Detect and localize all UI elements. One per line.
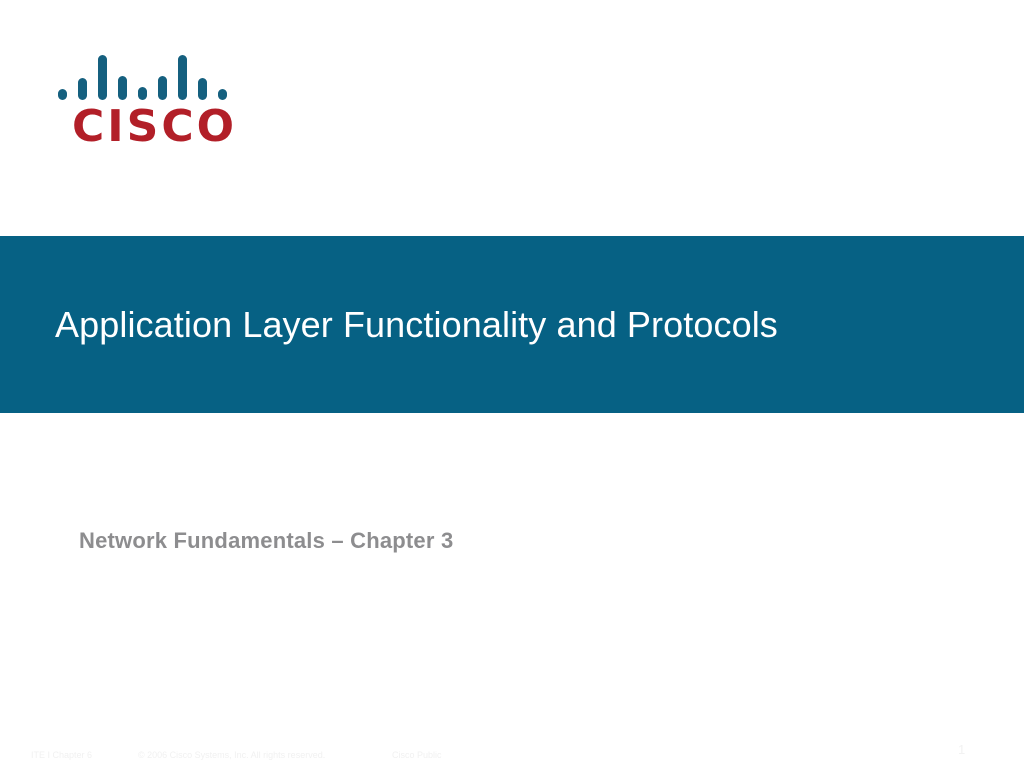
- bridge-bar: [118, 76, 127, 100]
- bridge-bar: [138, 87, 147, 100]
- slide-canvas: CISCO Application Layer Functionality an…: [0, 0, 1024, 768]
- bridge-bar: [98, 55, 107, 100]
- bridge-bar: [178, 55, 187, 100]
- cisco-logo: CISCO: [58, 55, 243, 160]
- title-banner: Application Layer Functionality and Prot…: [0, 236, 1024, 413]
- bridge-bar: [198, 78, 207, 100]
- page-title: Application Layer Functionality and Prot…: [55, 305, 778, 345]
- footer-chapter-label: ITE I Chapter 6: [31, 748, 92, 762]
- footer-classification-label: Cisco Public: [392, 748, 442, 762]
- bridge-bar: [218, 89, 227, 100]
- cisco-bridge-logo-icon: [58, 55, 233, 100]
- page-number: 1: [958, 742, 965, 758]
- bridge-bar: [78, 78, 87, 100]
- bridge-bar: [158, 76, 167, 100]
- cisco-wordmark: CISCO: [72, 105, 237, 149]
- bridge-bar: [58, 89, 67, 100]
- footer-copyright-label: © 2006 Cisco Systems, Inc. All rights re…: [138, 748, 325, 762]
- slide-footer: ITE I Chapter 6 © 2006 Cisco Systems, In…: [0, 748, 1024, 768]
- page-subtitle: Network Fundamentals – Chapter 3: [79, 528, 453, 554]
